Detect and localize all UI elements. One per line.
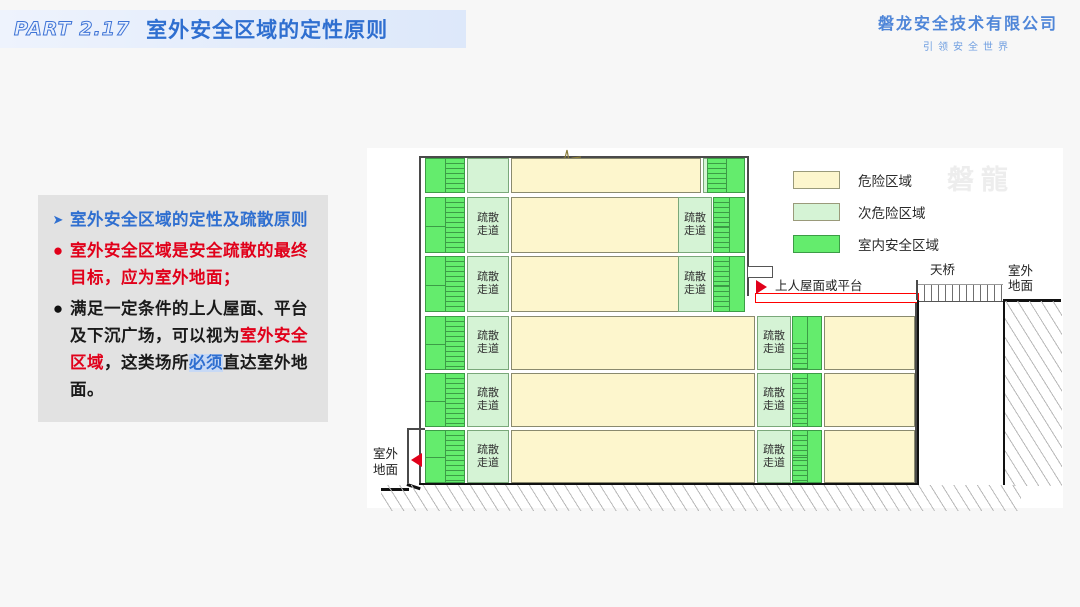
- stair-right-floor-e: [792, 373, 822, 427]
- room-floor-a: [511, 158, 701, 193]
- corridor-left-floor-c: 疏散走道: [467, 256, 509, 312]
- sky-bridge: [917, 284, 1003, 302]
- ground-hatching: [381, 485, 1021, 511]
- legend-item-indoor-safe: 室内安全区域: [793, 234, 939, 254]
- stair-right-floor-c: [713, 256, 745, 312]
- black-dot-bullet-icon: ●: [46, 296, 70, 322]
- corridor-right-floor-c: 疏散走道: [678, 256, 712, 312]
- watermark-text: 磐龍: [947, 158, 1015, 197]
- corridor-left-floor-a: [467, 158, 509, 193]
- outdoor-ground-pointer-arrow-icon: [411, 453, 422, 467]
- legend-label-subdanger: 次危险区域: [858, 202, 926, 222]
- room-floor-b: [511, 197, 701, 253]
- bullet-3-seg-highlight: 必须: [189, 354, 223, 372]
- corridor-label: 疏散走道: [763, 330, 785, 356]
- corridor-left-floor-b: 疏散走道: [467, 197, 509, 253]
- corridor-label: 疏散走道: [477, 212, 499, 238]
- corridor-left-floor-d: 疏散走道: [467, 316, 509, 370]
- corridor-label: 疏散走道: [477, 444, 499, 470]
- legend-item-subdanger: 次危险区域: [793, 202, 939, 222]
- corridor-left-floor-f: 疏散走道: [467, 430, 509, 483]
- label-sky-bridge: 天桥: [930, 263, 955, 278]
- red-dot-bullet-icon: ●: [46, 238, 70, 264]
- corridor-label: 疏散走道: [763, 444, 785, 470]
- legend-swatch-danger: [793, 171, 840, 189]
- label-outdoor-ground-right-text: 室外地面: [1008, 264, 1033, 293]
- bullet-3-seg-3: ，这类场所: [104, 354, 189, 372]
- retaining-wall-right: [917, 300, 919, 485]
- stair-left-floor-c: [425, 256, 465, 312]
- room-floor-f-right: [824, 430, 915, 483]
- bullet-text-panel: ➤ 室外安全区域的定性及疏散原则 ● 室外安全区域是安全疏散的最终目标，应为室外…: [38, 195, 328, 422]
- room-floor-d-right: [824, 316, 915, 370]
- right-ground-hatching: [1004, 301, 1062, 486]
- bullet-item-2: ● 室外安全区域是安全疏散的最终目标，应为室外地面；: [46, 238, 318, 292]
- bullet-text-2: 室外安全区域是安全疏散的最终目标，应为室外地面；: [70, 238, 318, 292]
- bridge-left-post: [916, 280, 918, 300]
- slide-title-bar: PART 2.17 室外安全区域的定性原则: [0, 10, 466, 48]
- label-roof-platform: 上人屋面或平台: [775, 279, 863, 294]
- legend-swatch-subdanger: [793, 203, 840, 221]
- legend-swatch-indoor-safe: [793, 235, 840, 253]
- corridor-left-floor-e: 疏散走道: [467, 373, 509, 427]
- corridor-label: 疏散走道: [477, 387, 499, 413]
- part-label: PART 2.17: [14, 18, 130, 40]
- diagram-legend: 危险区域 次危险区域 室内安全区域: [793, 170, 939, 266]
- bullet-text-3: 满足一定条件的上人屋面、平台及下沉广场，可以视为室外安全区域，这类场所必须直达室…: [70, 296, 318, 404]
- stair-right-floor-d: [792, 316, 822, 370]
- bullet-text-1: 室外安全区域的定性及疏散原则: [70, 207, 308, 234]
- ground-exit-stub-vertical: [407, 428, 409, 483]
- corridor-label: 疏散走道: [477, 330, 499, 356]
- corridor-label: 疏散走道: [763, 387, 785, 413]
- stair-left-floor-b: [425, 197, 465, 253]
- corridor-label: 疏散走道: [684, 212, 706, 238]
- corridor-label: 疏散走道: [477, 271, 499, 297]
- stair-right-floor-f: [792, 430, 822, 483]
- room-floor-f-left: [511, 430, 755, 483]
- logo-slogan: 引领安全世界: [878, 38, 1058, 53]
- stair-left-floor-e: [425, 373, 465, 427]
- stair-right-floor-b: [713, 197, 745, 253]
- legend-item-danger: 危险区域: [793, 170, 939, 190]
- legend-label-indoor-safe: 室内安全区域: [858, 234, 939, 254]
- legend-label-danger: 危险区域: [858, 170, 912, 190]
- ground-exit-stub: [407, 428, 425, 430]
- label-outdoor-ground-left: 室外地面: [373, 446, 398, 478]
- page-title: 室外安全区域的定性原则: [146, 14, 388, 44]
- corridor-right-floor-d: 疏散走道: [757, 316, 791, 370]
- arrow-bullet-icon: ➤: [46, 207, 70, 233]
- stair-right-floor-a: [707, 158, 745, 193]
- platform-pointer-arrow-icon: [756, 280, 767, 294]
- stair-left-floor-a: [425, 158, 465, 193]
- label-outdoor-ground-left-text: 室外地面: [373, 447, 398, 477]
- room-floor-e-right: [824, 373, 915, 427]
- stair-left-floor-d: [425, 316, 465, 370]
- label-outdoor-ground-right: 室外地面: [1008, 264, 1033, 294]
- room-floor-c: [511, 256, 701, 312]
- bullet-item-1: ➤ 室外安全区域的定性及疏散原则: [46, 207, 318, 234]
- company-logo: 磐龙安全技术有限公司 引领安全世界: [878, 10, 1058, 53]
- logo-company-name: 磐龙安全技术有限公司: [878, 10, 1058, 34]
- corridor-right-floor-b: 疏散走道: [678, 197, 712, 253]
- corridor-right-floor-e: 疏散走道: [757, 373, 791, 427]
- building-section-diagram: 磐龍 危险区域 次危险区域 室内安全区域 疏散走道: [367, 148, 1063, 508]
- room-floor-d-left: [511, 316, 755, 370]
- right-ground-edge: [1003, 299, 1005, 485]
- accessible-roof-platform: [755, 293, 919, 303]
- stair-left-floor-f: [425, 430, 465, 483]
- corridor-label: 疏散走道: [684, 271, 706, 297]
- room-floor-e-left: [511, 373, 755, 427]
- building-left-wall: [419, 156, 421, 483]
- corridor-right-floor-f: 疏散走道: [757, 430, 791, 483]
- bullet-item-3: ● 满足一定条件的上人屋面、平台及下沉广场，可以视为室外安全区域，这类场所必须直…: [46, 296, 318, 404]
- roof-exit-door: [747, 266, 773, 278]
